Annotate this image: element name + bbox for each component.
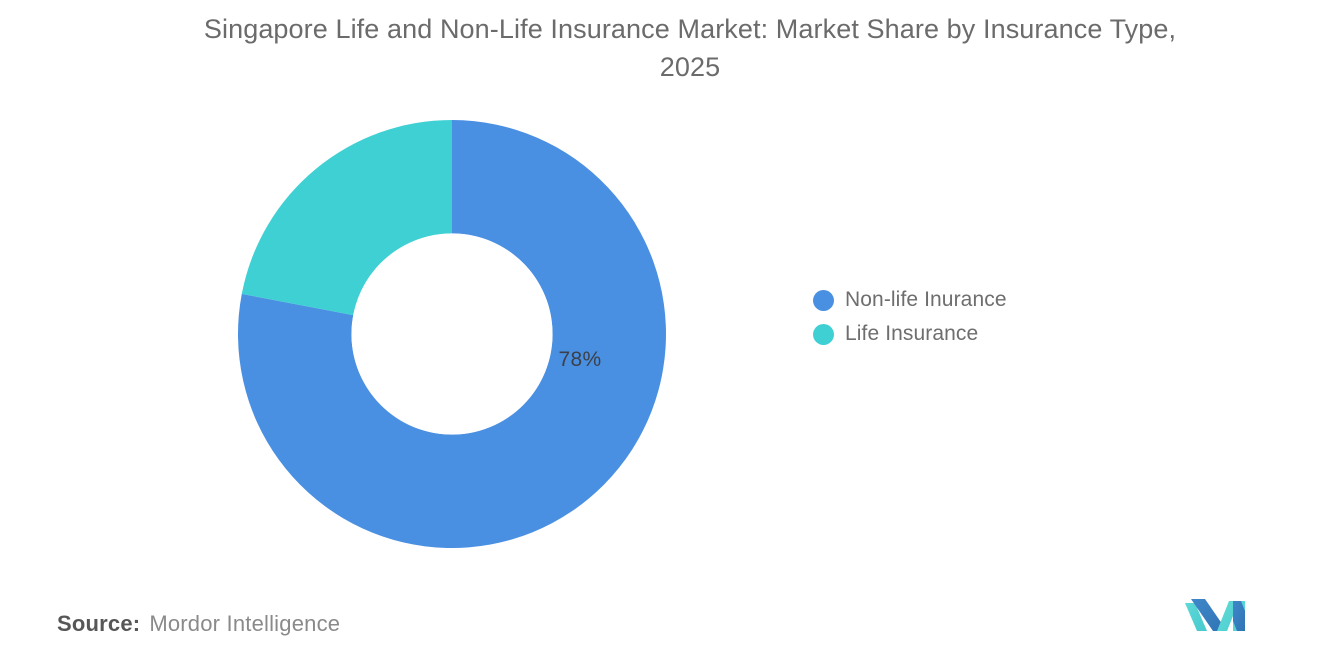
legend-swatch-life-icon [813,324,834,345]
source-label: Source: [57,611,140,637]
chart-page: Singapore Life and Non-Life Insurance Ma… [0,0,1320,665]
chart-legend: Non-life Inurance Life Insurance [813,283,1007,351]
donut-chart: 78% [238,120,666,548]
legend-swatch-non-life-icon [813,290,834,311]
legend-item-non-life-insurance[interactable]: Non-life Inurance [813,283,1007,317]
legend-label-non-life-insurance: Non-life Inurance [845,288,1007,312]
donut-center-hole [352,234,553,435]
mordor-intelligence-logo-icon [1185,597,1253,637]
legend-item-life-insurance[interactable]: Life Insurance [813,317,1007,351]
chart-title: Singapore Life and Non-Life Insurance Ma… [170,10,1210,86]
source-attribution: Source: Mordor Intelligence [57,611,340,637]
donut-chart-svg [238,120,666,548]
legend-label-life-insurance: Life Insurance [845,322,978,346]
source-value: Mordor Intelligence [149,611,340,637]
